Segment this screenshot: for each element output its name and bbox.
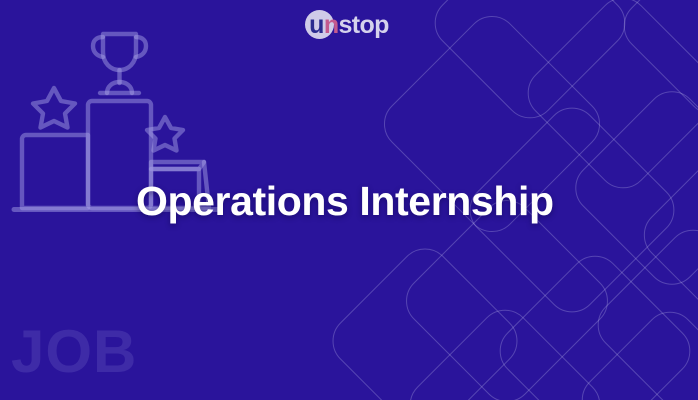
category-watermark: JOB (11, 322, 137, 382)
logo-wordmark: u n stop (309, 13, 389, 38)
logo-letters-stop: stop (338, 13, 388, 38)
podium-second-place (22, 135, 88, 208)
deco-square (571, 301, 698, 400)
star-icon-left (33, 88, 75, 128)
podium-third-place-top (151, 162, 204, 169)
unstop-logo[interactable]: u n stop (0, 9, 698, 41)
deco-square (633, 143, 698, 327)
logo-letter-n: n (324, 13, 339, 38)
deco-square (399, 299, 611, 400)
trophy-foot (107, 82, 132, 93)
deco-square (322, 238, 528, 400)
deco-square (587, 219, 698, 400)
star-icon-right (147, 117, 183, 151)
deco-square (565, 81, 698, 296)
page-title: Operations Internship (136, 178, 554, 225)
deco-square (489, 245, 698, 400)
logo-letter-u: u (309, 13, 324, 38)
job-banner: u n stop Operations Internship JOB (0, 0, 698, 400)
